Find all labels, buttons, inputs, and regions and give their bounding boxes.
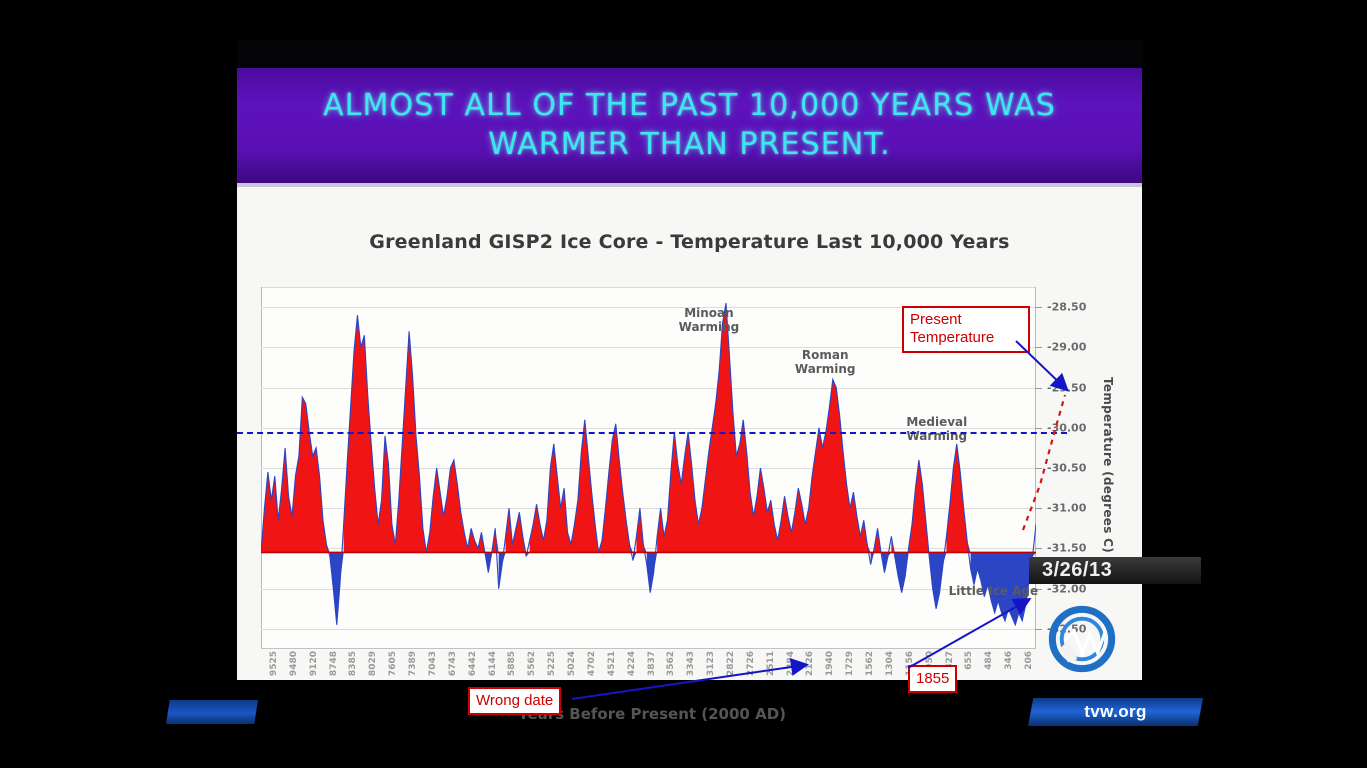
y-axis-tick	[1035, 468, 1042, 469]
x-axis-label: 8385	[348, 651, 358, 676]
x-axis-label: 5225	[547, 651, 557, 676]
y-axis-tick	[1035, 629, 1042, 630]
presentation-slide: ALMOST ALL OF THE PAST 10,000 YEARS WAS …	[237, 40, 1142, 680]
y-axis-label: -31.00	[1047, 502, 1086, 515]
x-axis-label: 484	[984, 651, 994, 670]
present-temperature-line-2: Temperature	[910, 329, 1022, 347]
x-axis-label: 6743	[448, 651, 458, 676]
era-label: Roman Warming	[780, 349, 870, 377]
present-temperature-callout: Present Temperature	[902, 306, 1030, 353]
x-axis-label: 2726	[746, 651, 756, 676]
x-axis-label: 4224	[627, 651, 637, 676]
era-label: Medieval Warming	[892, 416, 982, 444]
x-axis-label: 3562	[666, 651, 676, 676]
x-axis-label: 9480	[289, 651, 299, 676]
x-axis-label: 3123	[706, 651, 716, 676]
y-axis-tick	[1035, 548, 1042, 549]
x-axis-label: 2511	[766, 651, 776, 676]
x-axis-label: 8748	[329, 651, 339, 676]
chart-page: Greenland GISP2 Ice Core - Temperature L…	[237, 187, 1142, 680]
slide-title-line-2: WARMER THAN PRESENT.	[488, 126, 891, 164]
x-axis-label: 2394	[786, 651, 796, 676]
x-axis-label: 5885	[507, 651, 517, 676]
x-axis-label: 9525	[269, 651, 279, 676]
y-axis-tick	[1035, 388, 1042, 389]
present-temperature-line-1: Present	[910, 311, 1022, 329]
broadcast-date: 3/26/13	[1029, 559, 1112, 582]
broadcast-date-badge: 3/26/13	[1029, 557, 1201, 584]
x-axis-label: 3343	[686, 651, 696, 676]
x-axis-label: 1304	[885, 651, 895, 676]
tvw-logo	[1043, 600, 1121, 678]
era-label: Minoan Warming	[664, 307, 754, 335]
lower-third-url-bar: tvw.org	[1028, 698, 1203, 726]
x-axis-label: 206	[1024, 651, 1034, 670]
right-letterbox	[1142, 40, 1367, 680]
x-axis-label: 6144	[488, 651, 498, 676]
y-axis-label: -29.50	[1047, 381, 1086, 394]
x-axis-label: 5024	[567, 651, 577, 676]
x-axis-label: 346	[1004, 651, 1014, 670]
y-axis-tick	[1035, 508, 1042, 509]
wrong-date-callout: Wrong date	[468, 687, 561, 715]
x-axis-label: 655	[964, 651, 974, 670]
y-axis-tick	[1035, 307, 1042, 308]
x-axis-label: 4702	[587, 651, 597, 676]
era-label: Little Ice Age	[948, 585, 1038, 599]
x-axis-label: 7389	[408, 651, 418, 676]
lower-third-left-bar	[166, 700, 258, 724]
video-frame: ALMOST ALL OF THE PAST 10,000 YEARS WAS …	[0, 0, 1367, 768]
x-axis-label: 7043	[428, 651, 438, 676]
x-axis-label: 2126	[805, 651, 815, 676]
x-axis-label: 8029	[368, 651, 378, 676]
y-axis-label: -28.50	[1047, 301, 1086, 314]
slide-title-line-1: ALMOST ALL OF THE PAST 10,000 YEARS WAS	[323, 87, 1056, 125]
x-axis-label: 3837	[647, 651, 657, 676]
y-axis-tick	[1035, 428, 1042, 429]
x-axis-label: 2822	[726, 651, 736, 676]
year-1855-callout: 1855	[908, 665, 957, 693]
x-axis-label: 4521	[607, 651, 617, 676]
y-axis-label: -31.50	[1047, 542, 1086, 555]
x-axis-label: 5562	[527, 651, 537, 676]
chart-title: Greenland GISP2 Ice Core - Temperature L…	[237, 231, 1142, 253]
x-axis-title: Years Before Present (2000 AD)	[237, 705, 1067, 723]
slide-top-bar	[237, 40, 1142, 68]
present-temperature-reference-line	[237, 432, 1067, 434]
y-axis-label: -29.00	[1047, 341, 1086, 354]
y-axis-title: Temperature (degrees C)	[1101, 377, 1115, 553]
x-axis-label: 6442	[468, 651, 478, 676]
x-axis-label: 9120	[309, 651, 319, 676]
y-axis-label: -32.00	[1047, 582, 1086, 595]
x-axis-label: 7605	[388, 651, 398, 676]
station-url: tvw.org	[1084, 702, 1147, 722]
x-axis-label: 1940	[825, 651, 835, 676]
y-axis-tick	[1035, 347, 1042, 348]
x-axis-label: 1562	[865, 651, 875, 676]
x-axis-label: 1729	[845, 651, 855, 676]
slide-title-banner: ALMOST ALL OF THE PAST 10,000 YEARS WAS …	[237, 68, 1142, 183]
y-axis-label: -30.50	[1047, 462, 1086, 475]
